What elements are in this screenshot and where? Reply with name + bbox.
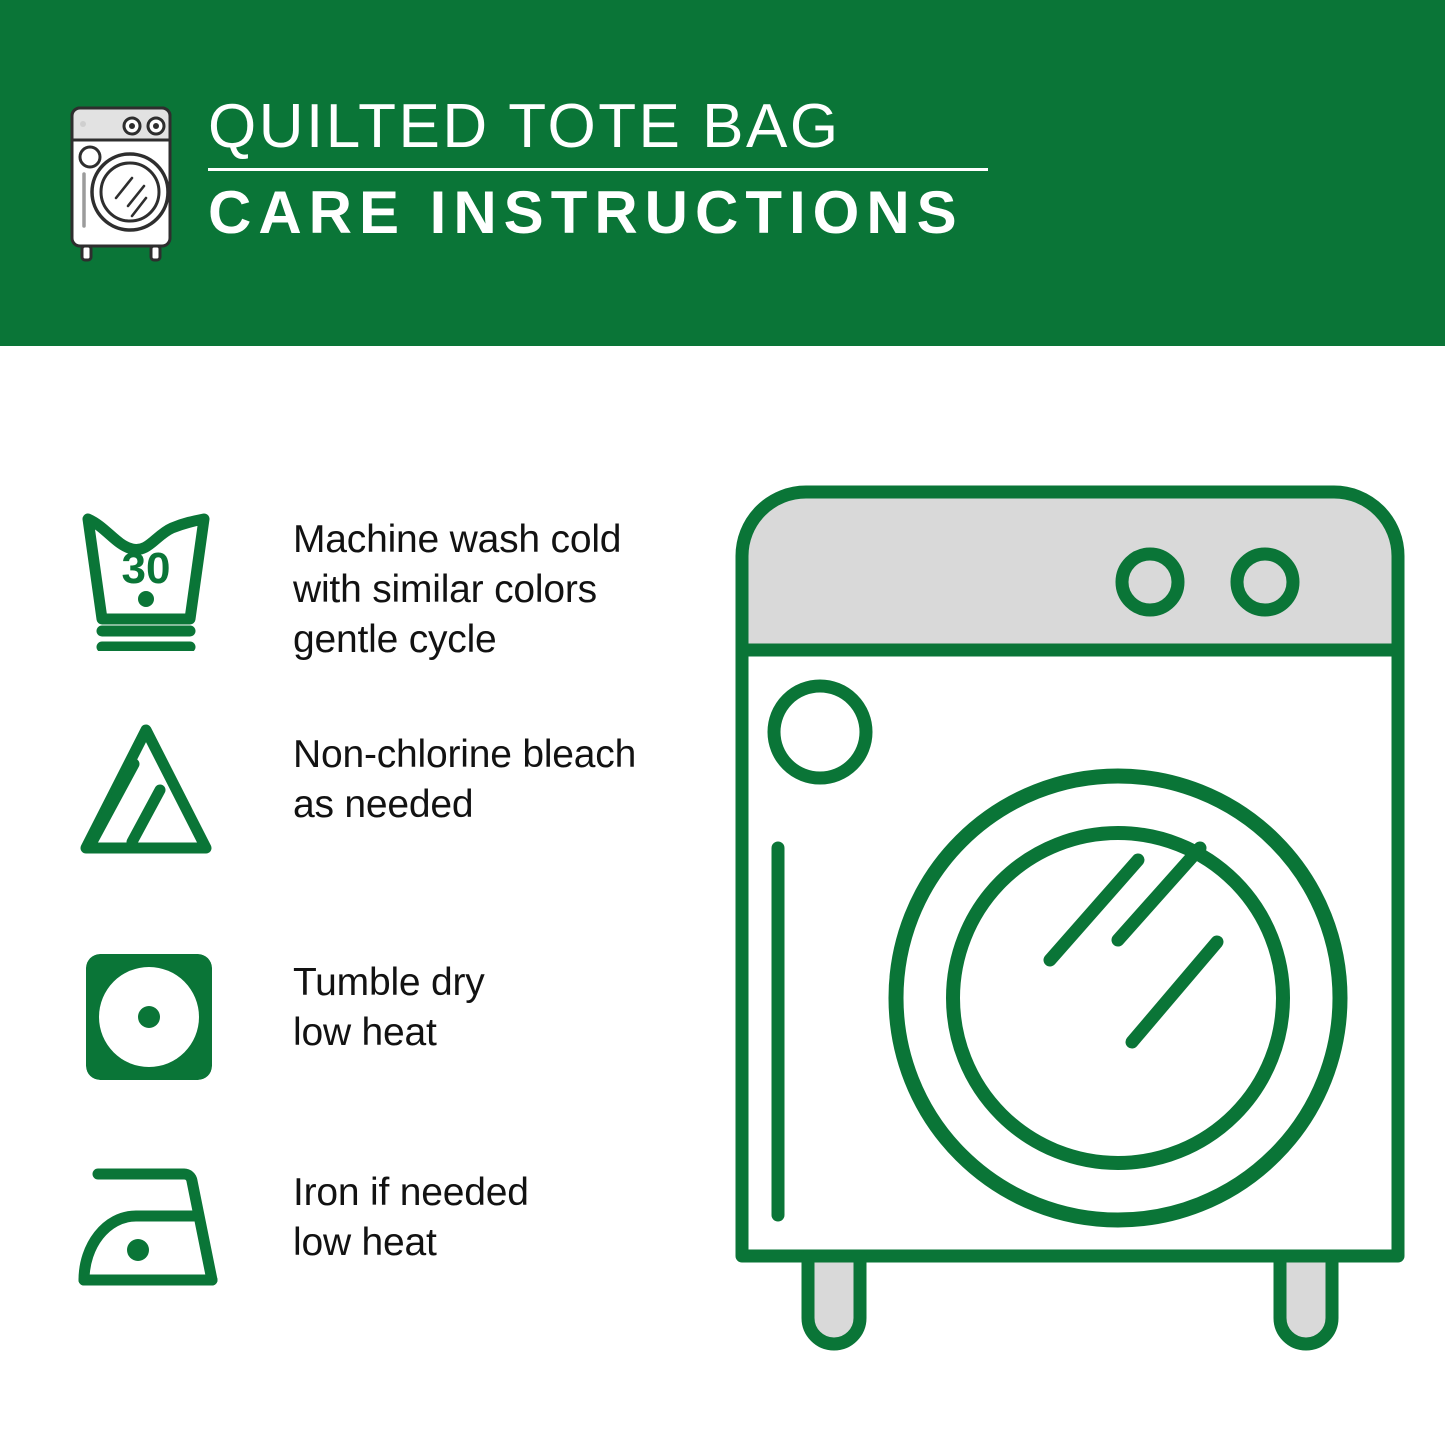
detergent-port — [774, 686, 866, 778]
care-instructions-page: QUILTED TOTE BAG CARE INSTRUCTIONS 30 — [0, 0, 1445, 1445]
care-label-iron: Iron if needed low heat — [293, 1154, 529, 1268]
non-chlorine-bleach-triangle-icon — [72, 716, 227, 866]
tumble-dry-heat-dot — [138, 1006, 160, 1028]
care-row-tumble-dry: Tumble dry low heat — [72, 944, 692, 1094]
wash-dot-indicator — [138, 591, 154, 607]
page-header: QUILTED TOTE BAG CARE INSTRUCTIONS — [0, 0, 1445, 346]
care-label-tumble-dry: Tumble dry low heat — [293, 944, 485, 1058]
care-label-machine-wash: Machine wash cold with similar colors ge… — [293, 501, 621, 665]
control-panel — [742, 492, 1398, 650]
care-instruction-list: 30 Machine wash cold with similar colors… — [0, 346, 700, 1445]
care-row-machine-wash: 30 Machine wash cold with similar colors… — [72, 501, 692, 665]
care-label-bleach: Non-chlorine bleach as needed — [293, 716, 636, 830]
machine-wash-basin-icon: 30 — [72, 501, 227, 651]
door-outer-ring — [896, 776, 1340, 1220]
leg-left — [808, 1256, 860, 1344]
tumble-dry-icon — [72, 944, 227, 1094]
header-text-block: QUILTED TOTE BAG CARE INSTRUCTIONS — [204, 96, 988, 243]
iron-heat-dot — [127, 1239, 149, 1261]
header-content: QUILTED TOTE BAG CARE INSTRUCTIONS — [62, 96, 988, 262]
knob-right — [1237, 554, 1293, 610]
washing-machine-icon — [62, 102, 180, 262]
leg-right — [1280, 1256, 1332, 1344]
title-divider — [208, 168, 988, 171]
front-load-washing-machine-illustration — [720, 470, 1420, 1380]
iron-icon — [72, 1154, 227, 1304]
page-subtitle: CARE INSTRUCTIONS — [204, 183, 988, 243]
wash-temperature-label: 30 — [122, 544, 171, 593]
care-row-iron: Iron if needed low heat — [72, 1154, 692, 1304]
door-glare-lines — [1050, 848, 1217, 1042]
page-title: QUILTED TOTE BAG — [204, 96, 988, 158]
knob-left — [1122, 554, 1178, 610]
care-row-bleach: Non-chlorine bleach as needed — [72, 716, 692, 866]
